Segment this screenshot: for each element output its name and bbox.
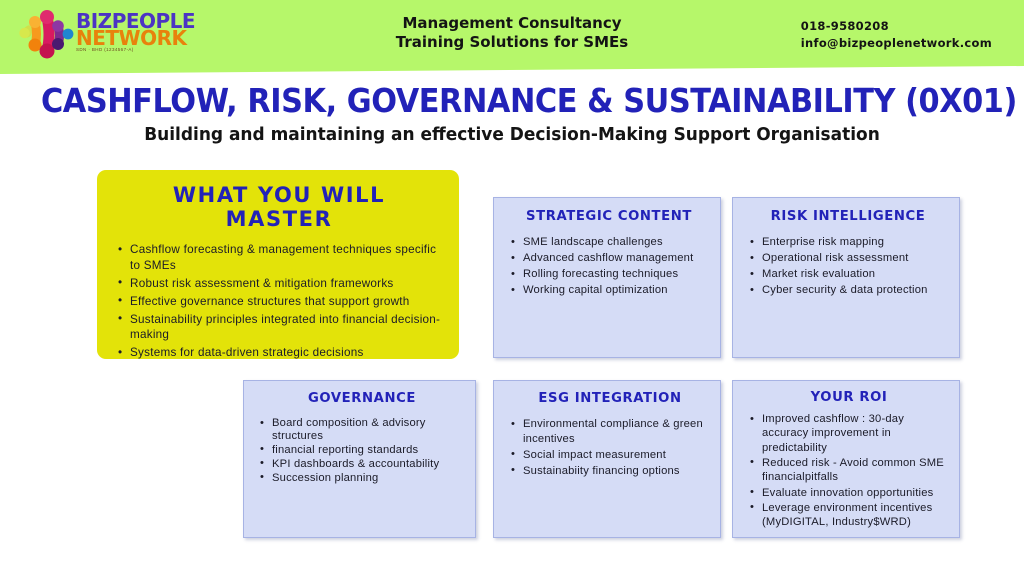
list-item: Systems for data-driven strategic decisi… [117, 345, 441, 361]
card-heading: GOVERNANCE [259, 391, 465, 406]
header: BIZPEOPLE NETWORK SDN · BHD (1234567-A) … [0, 0, 1024, 66]
card-bullet-list: Cashflow forecasting & management techni… [117, 242, 441, 361]
list-item: Social impact measurement [510, 448, 710, 463]
list-item: Operational risk assessment [749, 251, 947, 266]
card-heading: STRATEGIC CONTENT [510, 209, 708, 224]
list-item: Advanced cashflow management [510, 251, 708, 266]
list-item: Rolling forecasting techniques [510, 267, 708, 282]
card-bullet-list: Improved cashflow : 30-day accuracy impr… [749, 412, 949, 530]
list-item: Board composition & advisory structures [259, 417, 465, 443]
list-item: financial reporting standards [259, 444, 465, 457]
list-item: Working capital optimization [510, 283, 708, 298]
list-item: Leverage environment incentives (MyDIGIT… [749, 501, 949, 530]
card-governance: GOVERNANCE Board composition & advisory … [243, 380, 476, 538]
page-title: CASHFLOW, RISK, GOVERNANCE & SUSTAINABIL… [41, 84, 983, 119]
card-bullet-list: Environmental compliance & green incenti… [510, 417, 710, 478]
card-heading: YOUR ROI [749, 390, 949, 405]
list-item: Enterprise risk mapping [749, 235, 947, 250]
card-esg-integration: ESG INTEGRATION Environmental compliance… [493, 380, 721, 538]
card-heading: ESG INTEGRATION [510, 391, 710, 406]
card-risk-intelligence: RISK INTELLIGENCE Enterprise risk mappin… [732, 197, 960, 358]
list-item: Market risk evaluation [749, 267, 947, 282]
list-item: KPI dashboards & accountability [259, 458, 465, 471]
list-item: Effective governance structures that sup… [117, 294, 441, 310]
list-item: Cyber security & data protection [749, 283, 947, 298]
list-item: SME landscape challenges [510, 235, 708, 250]
card-your-roi: YOUR ROI Improved cashflow : 30-day accu… [732, 380, 960, 538]
list-item: Succession planning [259, 472, 465, 485]
card-heading: WHAT YOU WILL MASTER [117, 183, 441, 231]
card-what-you-will-master: WHAT YOU WILL MASTER Cashflow forecastin… [97, 170, 459, 359]
list-item: Environmental compliance & green incenti… [510, 417, 710, 446]
list-item: Improved cashflow : 30-day accuracy impr… [749, 412, 949, 455]
list-item: Cashflow forecasting & management techni… [117, 242, 441, 273]
list-item: Robust risk assessment & mitigation fram… [117, 276, 441, 292]
contact-email[interactable]: info@bizpeoplenetwork.com [801, 35, 992, 52]
card-bullet-list: SME landscape challenges Advanced cashfl… [510, 235, 708, 298]
list-item: Sustainabiity financing options [510, 464, 710, 479]
header-contact: 018-9580208 info@bizpeoplenetwork.com [801, 18, 992, 53]
list-item: Reduced risk - Avoid common SME financia… [749, 456, 949, 485]
page-subtitle: Building and maintaining an effective De… [15, 125, 1008, 145]
list-item: Sustainability principles integrated int… [117, 312, 441, 343]
contact-phone[interactable]: 018-9580208 [801, 18, 992, 35]
card-heading: RISK INTELLIGENCE [749, 209, 947, 224]
title-block: CASHFLOW, RISK, GOVERNANCE & SUSTAINABIL… [0, 84, 1024, 145]
list-item: Evaluate innovation opportunities [749, 486, 949, 500]
card-strategic-content: STRATEGIC CONTENT SME landscape challeng… [493, 197, 721, 358]
card-bullet-list: Enterprise risk mapping Operational risk… [749, 235, 947, 298]
card-bullet-list: Board composition & advisory structures … [259, 417, 465, 484]
